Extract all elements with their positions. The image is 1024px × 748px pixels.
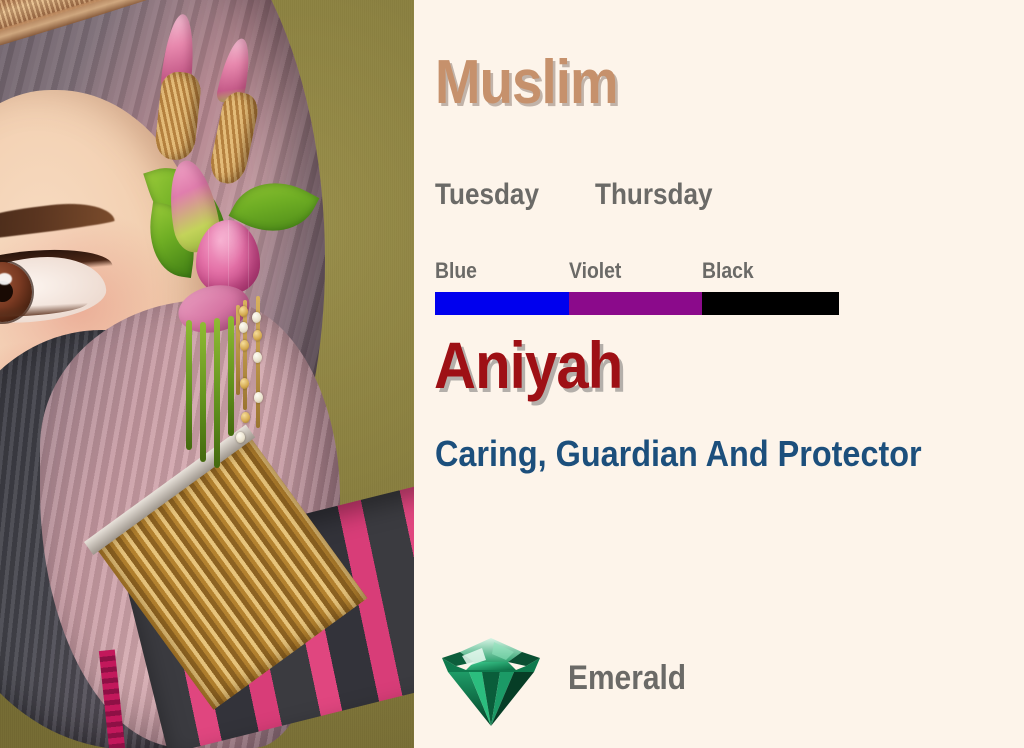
flower-stem (200, 322, 206, 462)
flower-stem (214, 318, 220, 468)
pearl-bead (239, 322, 248, 333)
swatch-violet (569, 292, 702, 315)
lucky-color-labels: Blue Violet Black (435, 258, 839, 284)
gold-bead (240, 340, 249, 351)
lucky-color-swatch-bar (435, 292, 839, 315)
lucky-colors-section: Blue Violet Black (435, 258, 839, 315)
flower-stem (228, 316, 234, 436)
gem-icon (436, 626, 546, 730)
pearl-bead (236, 432, 245, 443)
pearl-bead (253, 352, 262, 363)
pearl-bead (252, 312, 261, 323)
gold-bead (240, 378, 249, 389)
lucky-color-label-violet: Violet (569, 258, 621, 284)
info-panel: Muslim Tuesday Thursday Blue Violet Blac… (414, 0, 1024, 748)
name-meaning: Caring, Guardian And Protector (435, 436, 922, 472)
lucky-color-label-black: Black (702, 258, 754, 284)
flower-stem (186, 320, 192, 450)
name-info-card: Muslim Tuesday Thursday Blue Violet Blac… (0, 0, 1024, 748)
portrait-photo (0, 0, 414, 748)
lucky-day-tuesday: Tuesday (435, 178, 539, 212)
gemstone-row: Emerald (436, 626, 702, 730)
lucky-color-label-blue: Blue (435, 258, 477, 284)
gold-bead (253, 330, 262, 341)
pearl-bead (254, 392, 263, 403)
gemstone-label: Emerald (568, 659, 686, 698)
gold-bead (239, 306, 248, 317)
swatch-black (702, 292, 839, 315)
religion-title: Muslim (435, 52, 618, 114)
lucky-days-row: Tuesday Thursday (435, 178, 730, 212)
swatch-blue (435, 292, 569, 315)
gold-bead (241, 412, 250, 423)
lucky-day-thursday: Thursday (595, 178, 712, 212)
given-name: Aniyah (434, 332, 622, 398)
